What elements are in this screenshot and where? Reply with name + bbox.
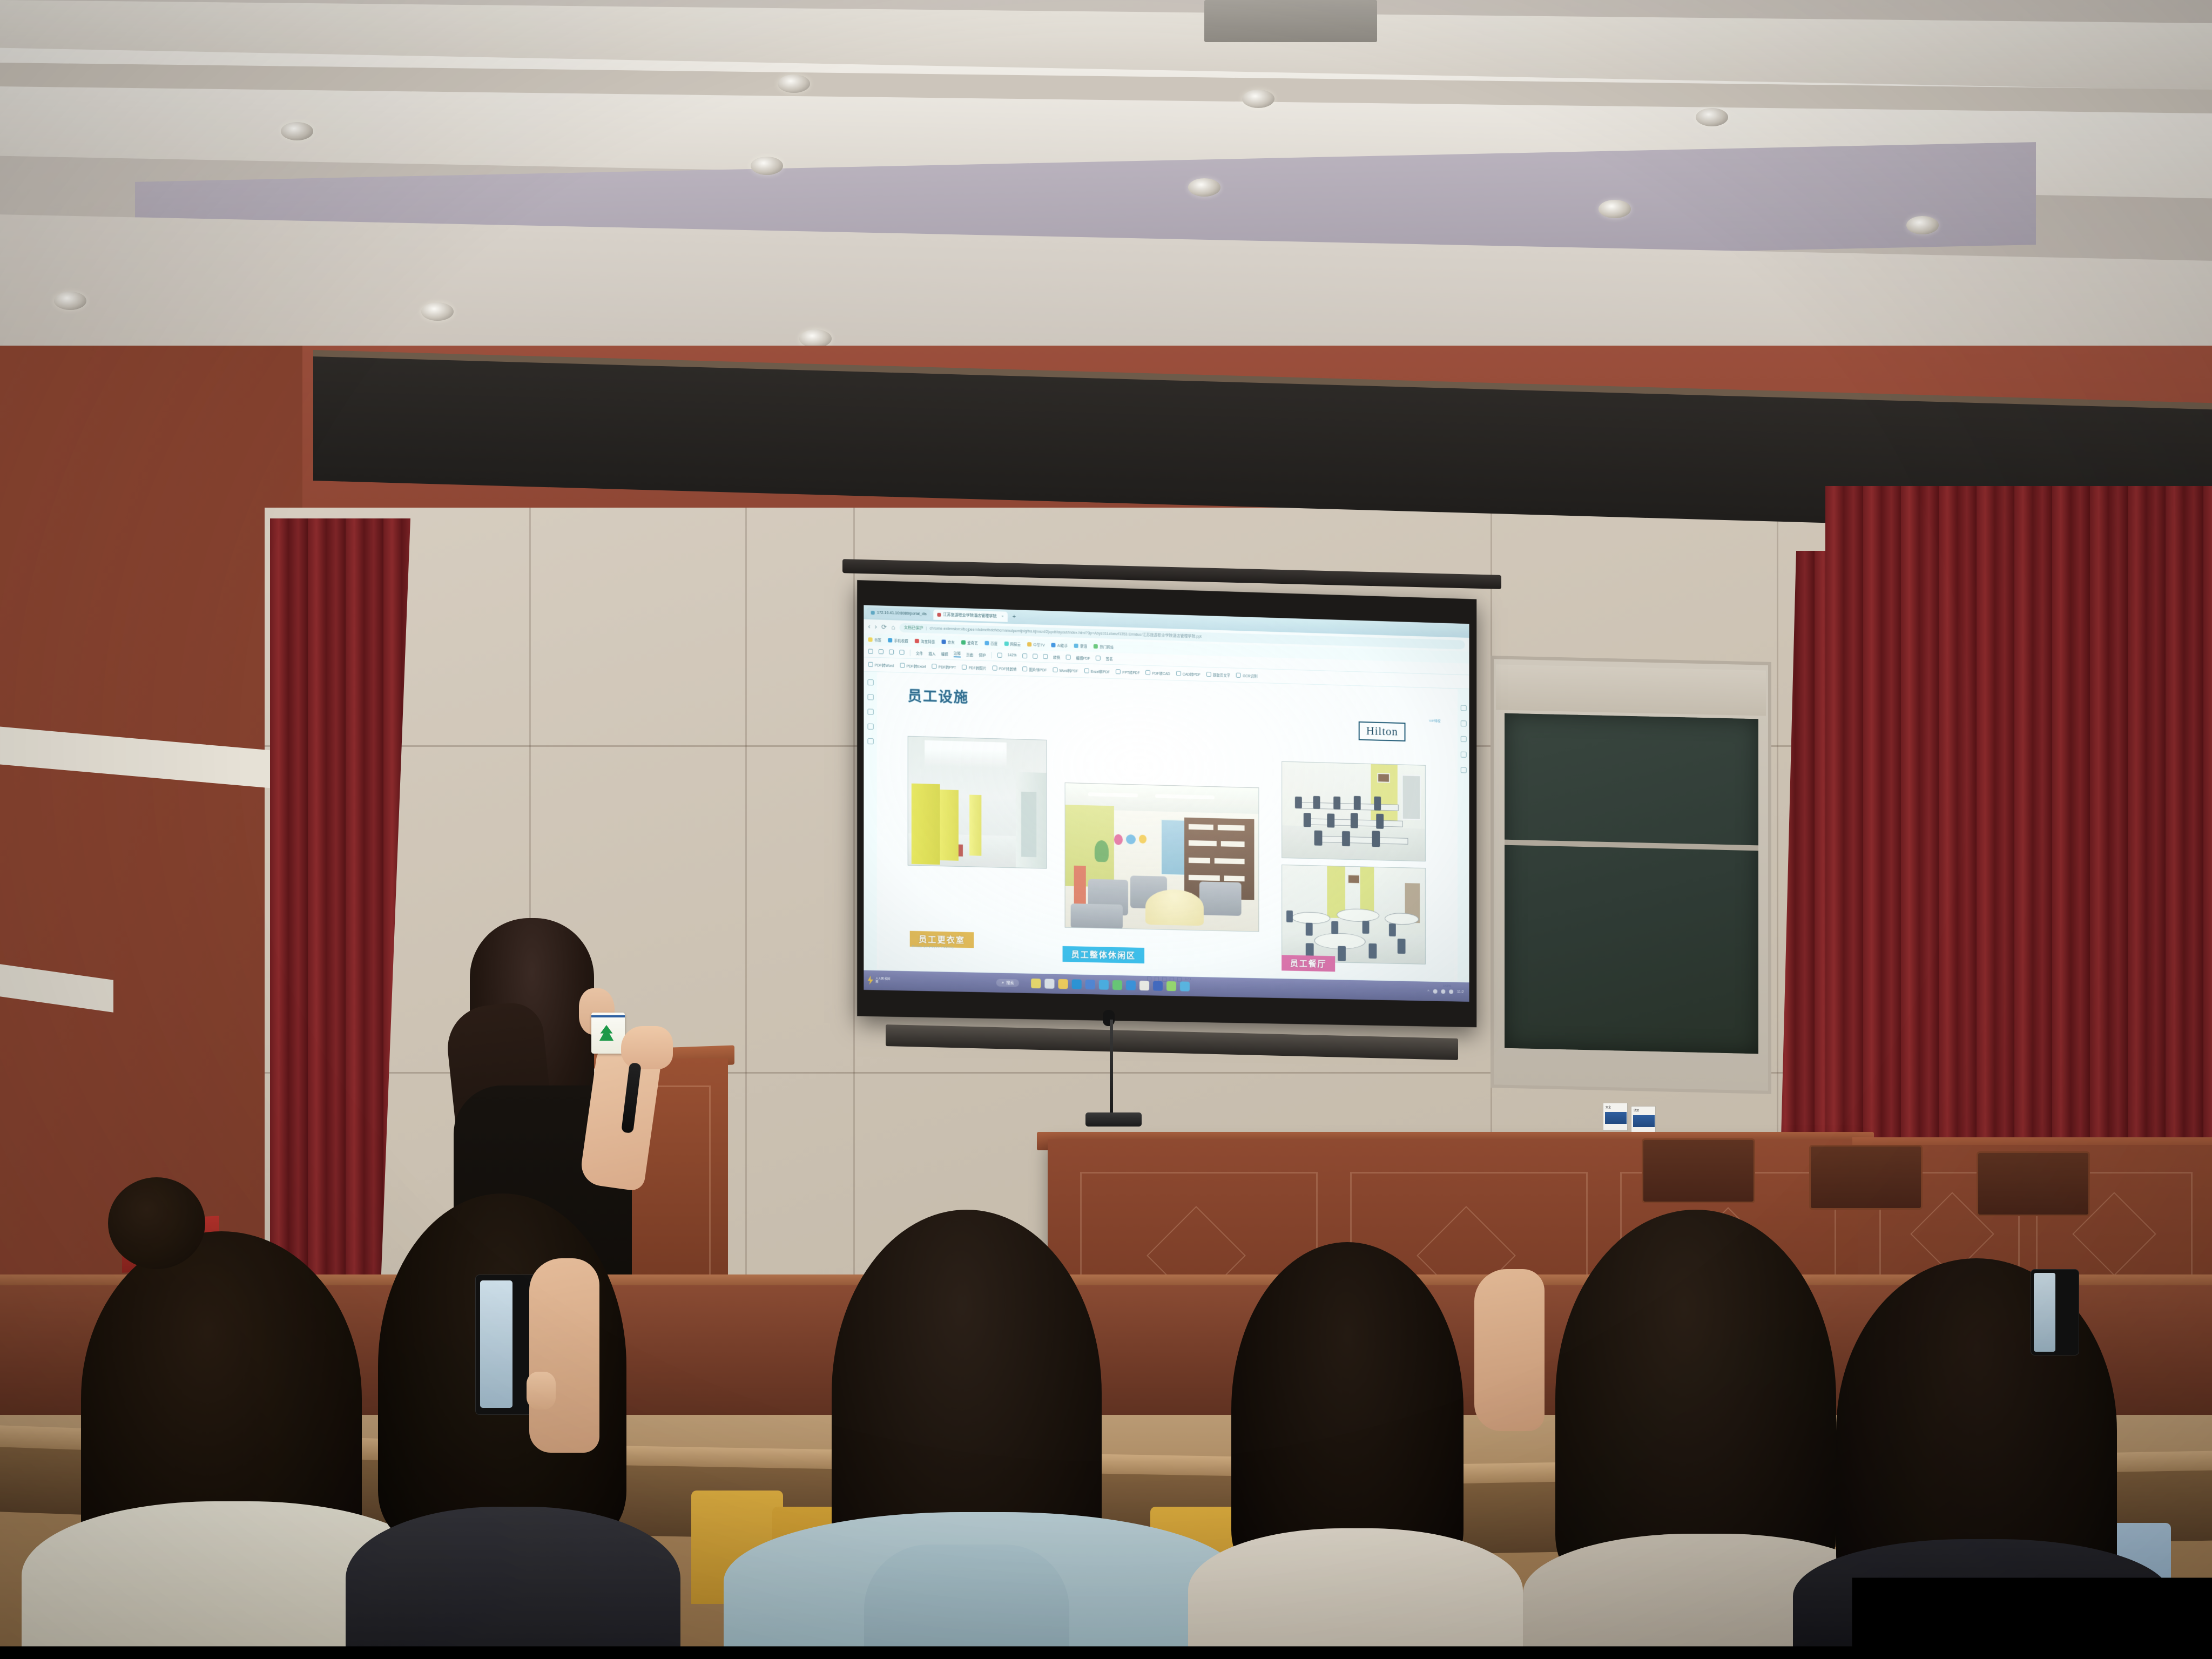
notice-label: 须知 (1634, 1109, 1639, 1112)
search-icon[interactable] (867, 724, 873, 730)
photo-chair (1351, 813, 1358, 828)
taskbar-brand-label: 人人网 校园网 (875, 977, 892, 984)
bookmark-label: 新浪 (1080, 643, 1087, 649)
zoom-out-icon[interactable] (997, 653, 1002, 658)
audience-phone-right (2031, 1269, 2079, 1355)
presentation-slide: 员工设施 Hilton VIP特权 (879, 674, 1454, 984)
chalkboard-top-rail (1496, 664, 1766, 716)
photo-chair (1331, 921, 1338, 934)
audience-member-6-body (1793, 1539, 2171, 1659)
tool-pdf-to-word[interactable]: PDF转Word (868, 662, 894, 667)
photo-chair (1327, 813, 1334, 827)
side-wall-left (0, 346, 302, 1318)
excel-to-pdf-icon (1084, 668, 1089, 673)
downlight (1599, 200, 1631, 218)
photo-yellow-column (1360, 867, 1374, 914)
pdf-to-word-icon (868, 662, 873, 667)
bookmark-label: 淘宝特惠 (921, 638, 935, 644)
forward-icon[interactable]: › (875, 623, 877, 630)
bookmark-item[interactable]: 淘宝特惠 (915, 638, 935, 644)
bookmark-favicon-icon (942, 639, 946, 644)
bookmark-favicon-icon (1051, 643, 1056, 647)
redo-icon[interactable] (899, 650, 904, 655)
bookmark-favicon-icon (1004, 642, 1008, 646)
thumbnails-icon[interactable] (867, 679, 873, 685)
toolbar-divider (910, 649, 911, 656)
phone-screen (2034, 1273, 2055, 1352)
photo-sofa (1071, 903, 1123, 929)
tool-pdf-to-excel[interactable]: PDF转Excel (900, 663, 926, 669)
photo-decor (1139, 835, 1147, 844)
star-icon[interactable] (1460, 705, 1466, 711)
battery-icon[interactable] (1449, 989, 1453, 994)
home-icon[interactable]: ⌂ (891, 623, 895, 631)
gooseneck-mic-base (1085, 1112, 1142, 1127)
stage-chair (1642, 1138, 1755, 1203)
photo-ceiling-light (925, 740, 1007, 768)
taskbar-app-chat[interactable] (1099, 980, 1109, 989)
tool-label: PDF转CAD (1152, 670, 1170, 676)
audience-thumb (527, 1372, 556, 1410)
lecture-hall-photo: 安全 须知 172.16.41.10:8080/portal_dis 江苏旅游职… (0, 0, 2212, 1659)
photo-chair (1363, 921, 1370, 934)
pdf-to-other-icon (993, 665, 997, 670)
tab-close-icon[interactable]: × (1001, 615, 1003, 618)
tool-cad-to-pdf[interactable]: CAD转PDF (1176, 671, 1201, 677)
photo-chair (1376, 814, 1384, 829)
stage-chair (1977, 1151, 2090, 1216)
word-to-pdf-icon (1053, 667, 1057, 672)
tool-ppt-to-pdf[interactable]: PPT转PDF (1116, 669, 1139, 675)
wall-notice-sign: 须知 (1631, 1106, 1656, 1134)
downlight (778, 75, 810, 93)
undo-icon[interactable] (868, 649, 873, 653)
zoom-level-label: 142% (1008, 653, 1017, 658)
menu-insert[interactable]: 插入 (928, 650, 935, 656)
photo-chair (1295, 797, 1302, 808)
photo-chair (1354, 796, 1361, 810)
taskbar-app-notes[interactable] (1031, 979, 1041, 988)
tool-label: PDF转PPT (939, 664, 956, 670)
tab-label: 江苏旅游职业学院酒店管理学院 (943, 612, 996, 619)
taskbar-app-mail[interactable] (1085, 980, 1095, 989)
taskbar-app-leaf[interactable] (1166, 981, 1176, 991)
save-icon[interactable] (879, 649, 884, 654)
taskbar-system-tray: ^ 11:2 (1427, 989, 1469, 994)
bookmark-item[interactable]: 热门网址 (1094, 644, 1114, 650)
slide-photo-locker-corridor (908, 736, 1047, 869)
slide-photo-employee-lounge (1065, 783, 1259, 932)
cad-to-pdf-icon (1176, 671, 1181, 676)
downlight (1188, 178, 1220, 197)
menu-edit[interactable]: 编辑 (941, 651, 948, 656)
taskbar-app-folder[interactable] (1058, 979, 1068, 989)
ocr-icon (1236, 673, 1241, 678)
taskbar-app-browser[interactable] (1072, 979, 1082, 989)
photo-books (1189, 875, 1220, 881)
document-viewport: 员工设施 Hilton VIP特权 (864, 672, 1469, 989)
photo-locker (912, 784, 940, 865)
photo-chair (1398, 939, 1406, 954)
downlight (1906, 216, 1939, 234)
audience-member-3-hood (864, 1545, 1069, 1659)
downlight (751, 157, 783, 175)
downlight (1696, 108, 1728, 126)
taskbar-app-office[interactable] (1153, 981, 1163, 990)
photo-wall-frame (1347, 874, 1360, 884)
photo-books (1189, 840, 1217, 846)
gooseneck-mic-stem (1110, 1020, 1113, 1116)
photo-chair (1333, 797, 1340, 810)
bookmark-label: 中华TV (1033, 642, 1044, 648)
photo-books (1224, 875, 1245, 881)
slide-photo-cafeteria-lower (1282, 865, 1426, 965)
highlight-icon[interactable] (1460, 752, 1466, 758)
pdf-to-excel-icon (900, 663, 905, 667)
bookmark-item[interactable]: 手机收藏 (888, 637, 908, 643)
downlight (799, 329, 832, 348)
secure-badge: 文档已保护 (904, 625, 923, 631)
tool-image-to-pdf[interactable]: 图片转PDF (1023, 666, 1047, 672)
search-icon: ⌕ (1002, 980, 1004, 986)
menu-page[interactable]: 页面 (966, 651, 973, 657)
photo-chair (1304, 813, 1311, 827)
photo-books (1215, 858, 1245, 864)
ppt-to-pdf-icon (1116, 669, 1121, 674)
photo-decor (1114, 834, 1123, 845)
downlight (1242, 90, 1274, 108)
bookmark-favicon-icon (1027, 642, 1031, 646)
bookmark-favicon-icon (1094, 644, 1098, 649)
taskbar-brand: 人人网 校园网 (864, 975, 892, 985)
taskbar-search-box[interactable]: ⌕ 搜索 (996, 979, 1020, 987)
downlight (281, 122, 313, 140)
photo-chair (1389, 923, 1396, 936)
menu-edit-pdf[interactable]: 编辑PDF (1076, 655, 1090, 660)
bookmark-favicon-icon (1074, 644, 1078, 648)
bookmark-favicon-icon (984, 641, 989, 645)
caret-up-icon[interactable]: ^ (1427, 989, 1429, 993)
bookmark-label: 京东 (948, 639, 955, 645)
edit-pdf-icon[interactable] (1065, 655, 1070, 659)
photo-door (1161, 819, 1186, 876)
audience-member-5-hair (1555, 1210, 1836, 1588)
photo-locker (940, 790, 958, 861)
hilton-brand-logo: Hilton (1359, 721, 1405, 741)
tool-label: 图片转PDF (1029, 666, 1047, 672)
panel-seam (745, 508, 747, 1312)
bookmark-label: 热门网址 (1100, 644, 1114, 650)
tool-ocr[interactable]: OCR识别 (1236, 672, 1257, 678)
note-icon[interactable] (1460, 736, 1466, 742)
audience-member-4-hair (1231, 1242, 1464, 1577)
image-to-pdf-icon (1023, 666, 1028, 671)
taskbar-app-document[interactable] (1045, 979, 1055, 988)
tool-pdf-to-ppt[interactable]: PDF转PPT (932, 664, 956, 670)
audience-member-4-body (1188, 1528, 1523, 1659)
bookmark-item[interactable]: 百度 (984, 640, 997, 646)
network-icon[interactable] (1433, 989, 1438, 994)
print-icon[interactable] (889, 650, 894, 655)
photo-decor (1126, 834, 1136, 844)
lightning-icon (867, 975, 874, 984)
menu-protect[interactable]: 保护 (979, 652, 986, 657)
extract-text-icon (1206, 672, 1211, 677)
fit-page-icon[interactable] (1033, 653, 1037, 658)
tab-label: 172.16.41.10:8080/portal_dis (877, 611, 927, 616)
photo-orange-column (1074, 866, 1086, 906)
photo-chair (1313, 796, 1320, 809)
slide-caption-cafeteria: 员工餐厅 (1282, 955, 1335, 972)
photo-chair (1306, 923, 1313, 936)
ceiling-vent (1204, 0, 1377, 42)
mug-band (591, 1015, 625, 1017)
search-placeholder: 搜索 (1006, 980, 1014, 986)
browser-tab-2[interactable]: 江苏旅游职业学院酒店管理学院 × (933, 609, 1008, 622)
photo-chair (1372, 831, 1380, 847)
audience-member-1-bun (108, 1177, 205, 1269)
bookmark-favicon-icon (868, 637, 873, 642)
bookmarks-panel-icon[interactable] (867, 694, 873, 700)
comments-icon[interactable] (867, 709, 873, 714)
vip-badge: VIP特权 (1429, 718, 1440, 724)
taskbar-app-phone[interactable] (1180, 981, 1190, 991)
bookmark-item[interactable]: 京东 (942, 639, 955, 645)
left-tool-rail (864, 672, 876, 977)
slide-caption-lounge: 员工整体休闲区 (1063, 946, 1144, 963)
menu-file[interactable]: 文件 (916, 650, 923, 656)
pdf-to-image-icon (962, 665, 967, 670)
bookmark-item[interactable]: 新浪 (1074, 643, 1087, 649)
tool-label: OCR识别 (1243, 672, 1257, 678)
more-icon[interactable] (1460, 767, 1466, 773)
bookmark-item[interactable]: AI助手 (1051, 642, 1068, 648)
audience-hand-holding-phone (529, 1258, 599, 1453)
photo-chair (1342, 831, 1350, 846)
menu-convert[interactable]: 转换 (1053, 654, 1060, 659)
pdf-to-ppt-icon (932, 664, 937, 669)
bookmark-item[interactable]: 爱奇艺 (961, 639, 978, 645)
tab-favicon-icon (937, 612, 941, 616)
toolbar-divider (992, 652, 992, 658)
sign-icon[interactable] (1095, 656, 1100, 660)
tool-pdf-to-cad[interactable]: PDF转CAD (1145, 670, 1170, 676)
wall-notice-sign: 安全 (1603, 1103, 1628, 1131)
panel-seam (853, 508, 855, 1312)
projection-screen-surface: 172.16.41.10:8080/portal_dis 江苏旅游职业学院酒店管… (864, 605, 1469, 1001)
photo-locker (969, 795, 981, 856)
tool-label: PDF转Excel (907, 663, 926, 669)
photo-plant (1095, 840, 1109, 862)
bookmark-favicon-icon (915, 639, 919, 643)
bookmark-item[interactable]: 中华TV (1027, 642, 1045, 648)
bookmark-label: AI助手 (1057, 643, 1068, 649)
taskbar-app-media[interactable] (1139, 981, 1149, 990)
photo-wall-frame (1377, 773, 1390, 783)
pdf-to-cad-icon (1145, 670, 1150, 675)
chalkboard-surface (1505, 713, 1758, 1054)
attachments-icon[interactable] (867, 738, 873, 744)
tool-pdf-to-image[interactable]: PDF转图片 (962, 664, 986, 670)
zoom-in-icon[interactable] (1022, 653, 1027, 658)
browser-window: 172.16.41.10:8080/portal_dis 江苏旅游职业学院酒店管… (864, 605, 1469, 1001)
audience-member-2-body (346, 1507, 680, 1659)
photo-books (1189, 824, 1213, 830)
bookmark-favicon-icon (888, 638, 892, 642)
taskbar-app-cloud[interactable] (1126, 980, 1136, 990)
photo-books (1189, 858, 1210, 864)
tool-excel-to-pdf[interactable]: Excel转PDF (1084, 668, 1110, 674)
clock-label: 11:2 (1457, 990, 1464, 994)
photo-books (1218, 825, 1245, 831)
photo-door (1021, 792, 1036, 857)
tab-favicon-icon (871, 610, 875, 614)
notice-label: 安全 (1606, 1105, 1611, 1109)
tool-label: Word转PDF (1059, 667, 1078, 673)
phone-screen (480, 1280, 512, 1408)
share-icon[interactable] (1460, 720, 1466, 726)
menu-annotate[interactable]: 注释 (954, 650, 961, 657)
rotate-icon[interactable] (1043, 654, 1048, 659)
photo-chair (1368, 943, 1377, 959)
volume-icon[interactable] (1441, 989, 1445, 994)
taskbar-app-music[interactable] (1112, 980, 1122, 990)
photo-armchair (1199, 881, 1242, 916)
photo-chair (1338, 946, 1346, 961)
bookmark-label: 爱奇艺 (967, 640, 978, 646)
presenter-hand (621, 1026, 673, 1069)
tool-word-to-pdf[interactable]: Word转PDF (1053, 667, 1078, 673)
bookmark-label: 网易云 (1010, 641, 1021, 647)
tool-label: PDF转其他 (999, 665, 1017, 671)
bookmark-label: 书签 (874, 637, 881, 643)
slide-title: 员工设施 (908, 685, 969, 706)
bookmark-label: 手机收藏 (894, 638, 908, 644)
tool-pdf-to-other[interactable]: PDF转其他 (993, 665, 1017, 671)
back-icon[interactable]: ‹ (868, 623, 871, 630)
downlight (421, 302, 454, 321)
tool-label: PDF转图片 (969, 665, 987, 671)
notice-bar (1633, 1115, 1655, 1127)
photo-door (1402, 774, 1421, 820)
photo-chair (1286, 911, 1293, 922)
downlight (54, 292, 86, 310)
notice-bar (1605, 1112, 1627, 1124)
bookmark-label: 百度 (990, 640, 997, 646)
photo-chair (1314, 831, 1323, 846)
slide-caption-subtext: Hilton Employee Facility (912, 945, 954, 949)
photo-chair (1374, 797, 1381, 811)
stage-chair (1809, 1145, 1923, 1210)
new-tab-button[interactable]: + (1010, 613, 1019, 621)
slide-photo-cafeteria-upper (1282, 761, 1426, 862)
tool-extract-text[interactable]: 提取页文字 (1206, 672, 1230, 678)
menu-sign[interactable]: 签名 (1106, 656, 1113, 661)
photo-books (1221, 841, 1245, 847)
audience-member-5-hand (1474, 1269, 1545, 1431)
tool-label: PPT转PDF (1122, 669, 1139, 675)
tool-label: Excel转PDF (1091, 668, 1110, 674)
tool-label: 提取页文字 (1213, 672, 1230, 678)
taskbar-app-strip (1031, 979, 1190, 992)
browser-tab-1[interactable]: 172.16.41.10:8080/portal_dis (867, 607, 930, 619)
bookmark-item[interactable]: 书签 (868, 637, 881, 643)
tool-label: PDF转Word (875, 662, 894, 667)
bookmark-item[interactable]: 网易云 (1004, 641, 1021, 647)
bookmark-favicon-icon (961, 640, 966, 644)
photo-fire-extinguisher (959, 845, 963, 857)
tool-label: CAD转PDF (1183, 671, 1201, 677)
reload-icon[interactable]: ⟳ (881, 623, 887, 631)
right-tool-rail (1458, 689, 1469, 989)
